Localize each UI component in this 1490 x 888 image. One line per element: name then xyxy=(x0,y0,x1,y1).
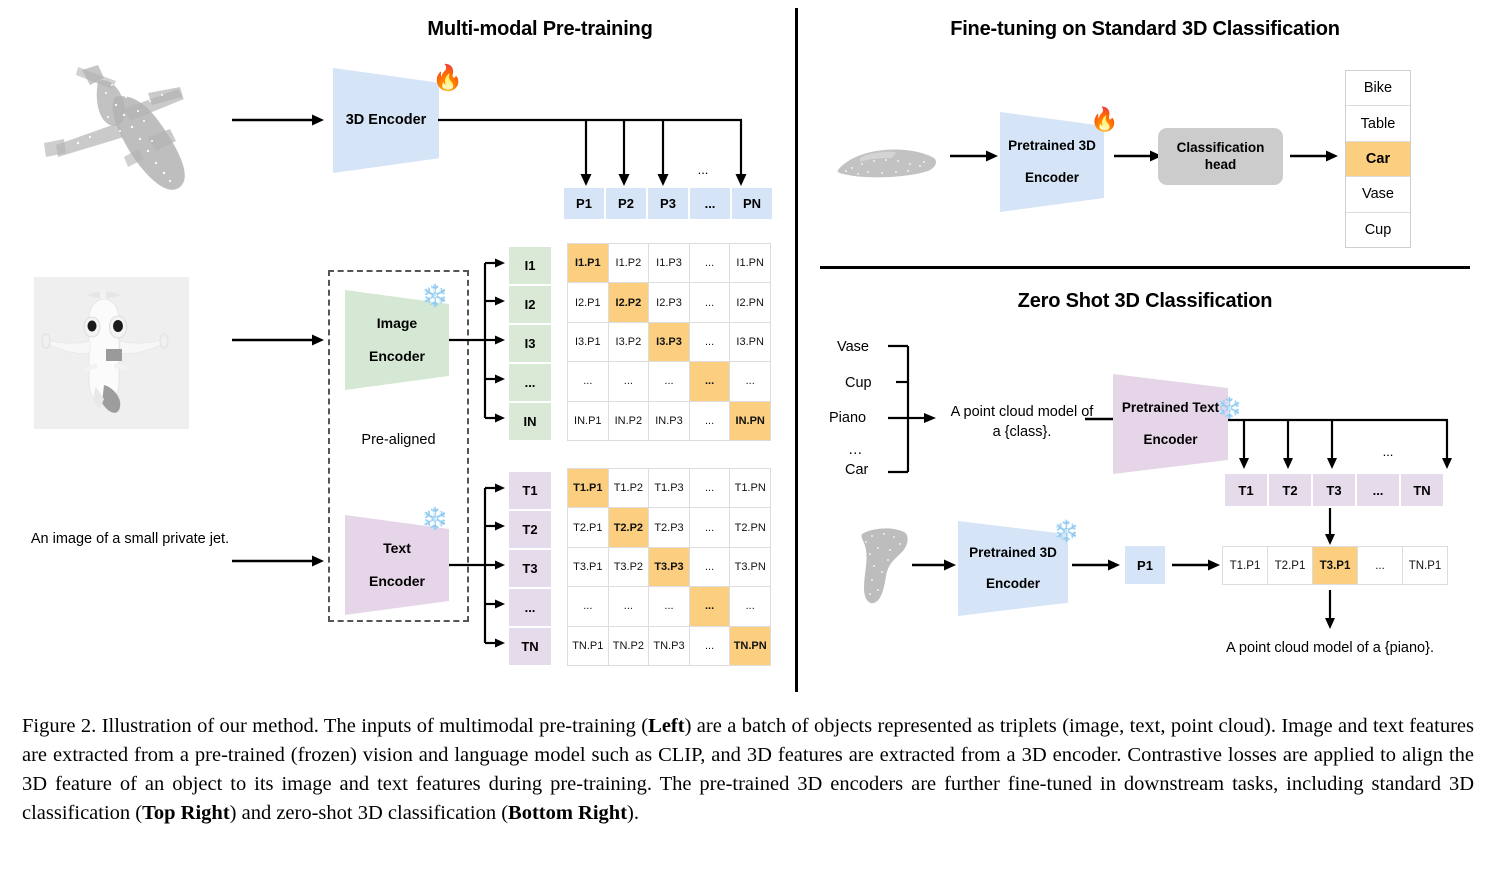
zs-chip-t2[interactable]: T2 xyxy=(1268,473,1312,507)
prompt-template: A point cloud model of a {class}. xyxy=(937,402,1107,442)
score-cell: ... xyxy=(1358,547,1402,584)
class-list-item[interactable]: Car xyxy=(1346,142,1410,177)
matrix-cell: ... xyxy=(690,402,730,440)
point-feature-fanout: ... xyxy=(438,112,758,192)
zs-chip-tn[interactable]: TN xyxy=(1400,473,1444,507)
zs-chip-t1[interactable]: T1 xyxy=(1224,473,1268,507)
bottom-right-panel-title: Zero Shot 3D Classification xyxy=(820,290,1470,313)
zs-result-text: A point cloud model of a {piano}. xyxy=(1180,640,1480,656)
horizontal-divider xyxy=(820,266,1470,269)
matrix-cell: T3.P3 xyxy=(649,548,689,586)
matrix-cell: TN.P2 xyxy=(609,627,649,665)
matrix-cell: I1.PN xyxy=(730,244,770,282)
caption-bold-topright: Top Right xyxy=(142,802,230,824)
zs-chip-p1[interactable]: P1 xyxy=(1124,545,1166,585)
chip-i-ellipsis: ... xyxy=(508,363,552,402)
matrix-cell: T2.P1 xyxy=(568,508,608,546)
matrix-cell: ... xyxy=(609,362,649,400)
matrix-cell: T2.P2 xyxy=(609,508,649,546)
jet-render-image xyxy=(34,277,189,429)
chip-label: T3 xyxy=(1326,483,1341,498)
chip-label: P2 xyxy=(618,196,634,211)
text-input-value: An image of a small private jet. xyxy=(31,531,229,547)
chip-label: T1 xyxy=(522,483,537,498)
matrix-cell: I1.P2 xyxy=(609,244,649,282)
image-encoder-line2: Encoder xyxy=(369,348,425,365)
chip-label: I1 xyxy=(525,258,536,273)
arrow-head-to-classes xyxy=(1290,148,1340,164)
chip-p3[interactable]: P3 xyxy=(647,187,689,220)
text-encoder-line1: Text xyxy=(369,540,425,557)
airplane-point-cloud xyxy=(20,45,250,235)
chip-label: ... xyxy=(1373,483,1384,498)
chip-label: P1 xyxy=(576,196,592,211)
chip-i1[interactable]: I1 xyxy=(508,246,552,285)
chip-label: T2 xyxy=(522,522,537,537)
text-input-label: An image of a small private jet. xyxy=(30,530,230,550)
left-panel-title: Multi-modal Pre-training xyxy=(290,18,790,41)
chip-t1[interactable]: T1 xyxy=(508,471,552,510)
matrix-cell: TN.P3 xyxy=(649,627,689,665)
snowflake-icon: ❄️ xyxy=(421,508,448,530)
arrow-pointcloud-to-3d-encoder xyxy=(232,112,328,128)
top-right-panel-title: Fine-tuning on Standard 3D Classificatio… xyxy=(820,18,1470,41)
pretrained-3d-encoder-block[interactable]: Pretrained 3D Encoder xyxy=(1000,112,1104,212)
vertical-divider xyxy=(795,8,798,692)
matrix-cell: T2.PN xyxy=(730,508,770,546)
candidate-class-car: Car xyxy=(845,462,868,478)
matrix-cell: IN.P3 xyxy=(649,402,689,440)
image-similarity-matrix: I1.P1I1.P2I1.P3...I1.PNI2.P1I2.P2I2.P3..… xyxy=(567,243,771,441)
encoder-3d-block[interactable]: 3D Encoder xyxy=(333,68,439,173)
matrix-cell: I2.P2 xyxy=(609,283,649,321)
chip-t-ellipsis: ... xyxy=(508,588,552,627)
class-list-item[interactable]: Bike xyxy=(1346,71,1410,106)
car-point-cloud xyxy=(832,138,942,188)
chip-t3[interactable]: T3 xyxy=(508,549,552,588)
fire-icon: 🔥 xyxy=(1090,108,1119,131)
svg-text:...: ... xyxy=(1383,444,1394,459)
text-feature-fanout xyxy=(449,480,511,660)
matrix-cell: I2.P3 xyxy=(649,283,689,321)
score-cell: T3.P1 xyxy=(1313,547,1357,584)
matrix-cell: I3.P2 xyxy=(609,323,649,361)
matrix-cell: T3.P1 xyxy=(568,548,608,586)
zs-text-encoder-line1: Pretrained Text xyxy=(1122,400,1219,416)
score-cell: T1.P1 xyxy=(1223,547,1267,584)
arrow-p1-to-scores xyxy=(1172,557,1222,573)
arrow-encoder-to-head xyxy=(1114,148,1164,164)
chip-label: ... xyxy=(705,196,716,211)
matrix-cell: I1.P3 xyxy=(649,244,689,282)
chip-tn[interactable]: TN xyxy=(508,627,552,666)
caption-part-1: Figure 2. Illustration of our method. Th… xyxy=(22,715,648,737)
matrix-cell: T3.P2 xyxy=(609,548,649,586)
class-list-item[interactable]: Vase xyxy=(1346,177,1410,212)
chip-label: T2 xyxy=(1282,483,1297,498)
encoder-3d-label: 3D Encoder xyxy=(346,112,427,129)
matrix-cell: TN.P1 xyxy=(568,627,608,665)
image-encoder-line1: Image xyxy=(369,315,425,332)
candidate-class-vase: Vase xyxy=(837,339,869,355)
zs-encoder-line1: Pretrained 3D xyxy=(969,545,1057,561)
matrix-cell: ... xyxy=(568,587,608,625)
matrix-cell: T1.P3 xyxy=(649,469,689,507)
matrix-cell: ... xyxy=(609,587,649,625)
text-encoder-line2: Encoder xyxy=(369,573,425,590)
classification-output-list[interactable]: BikeTableCarVaseCup xyxy=(1345,70,1411,248)
arrow-image-to-image-encoder xyxy=(232,332,328,348)
matrix-cell: IN.PN xyxy=(730,402,770,440)
point-feature-chips: P1 P2 P3 ... PN xyxy=(563,187,773,220)
classification-head-block[interactable]: Classification head xyxy=(1158,128,1283,185)
chip-label: TN xyxy=(521,639,538,654)
chip-label: ... xyxy=(525,600,536,615)
matrix-cell: IN.P1 xyxy=(568,402,608,440)
chip-label: PN xyxy=(743,196,761,211)
ft-encoder-line1: Pretrained 3D xyxy=(1008,138,1096,154)
matrix-cell: ... xyxy=(690,323,730,361)
chip-pn[interactable]: PN xyxy=(731,187,773,220)
arrow-car-to-encoder xyxy=(950,148,1000,164)
arrow-tchips-to-scores xyxy=(1320,508,1340,546)
matrix-cell: IN.P2 xyxy=(609,402,649,440)
svg-text:...: ... xyxy=(698,162,709,177)
chip-p-ellipsis: ... xyxy=(689,187,731,220)
snowflake-icon: ❄️ xyxy=(421,285,448,307)
ft-encoder-line2: Encoder xyxy=(1008,170,1096,186)
matrix-cell: T3.PN xyxy=(730,548,770,586)
class-list-item[interactable]: Table xyxy=(1346,106,1410,141)
text-similarity-matrix: T1.P1T1.P2T1.P3...T1.PNT2.P1T2.P2T2.P3..… xyxy=(567,468,771,666)
score-cell: T2.P1 xyxy=(1268,547,1312,584)
chip-p2[interactable]: P2 xyxy=(605,187,647,220)
zs-score-strip: T1.P1T2.P1T3.P1...TN.P1 xyxy=(1222,546,1448,585)
arrow-piano-to-encoder xyxy=(912,557,958,573)
image-feature-chips: I1 I2 I3 ... IN xyxy=(508,246,552,441)
candidate-class-piano: Piano xyxy=(829,410,866,426)
chip-i2[interactable]: I2 xyxy=(508,285,552,324)
zs-text-feature-chips: T1 T2 T3 ... TN xyxy=(1224,473,1444,507)
matrix-cell: T1.P2 xyxy=(609,469,649,507)
figure-canvas: Multi-modal Pre-training xyxy=(0,0,1490,700)
matrix-cell: ... xyxy=(730,362,770,400)
zs-pretrained-3d-encoder-block[interactable]: Pretrained 3D Encoder xyxy=(958,521,1068,616)
class-list-item[interactable]: Cup xyxy=(1346,213,1410,247)
fire-icon: 🔥 xyxy=(432,66,463,91)
chip-p1[interactable]: P1 xyxy=(563,187,605,220)
chip-label: P3 xyxy=(660,196,676,211)
text-feature-chips: T1 T2 T3 ... TN xyxy=(508,471,552,666)
matrix-cell: I1.P1 xyxy=(568,244,608,282)
chip-t2[interactable]: T2 xyxy=(508,510,552,549)
zs-text-feature-fanout: ... xyxy=(1228,410,1468,480)
arrow-text-to-text-encoder xyxy=(232,553,328,569)
zs-chip-t3[interactable]: T3 xyxy=(1312,473,1356,507)
chip-label: TN xyxy=(1413,483,1430,498)
matrix-cell: TN.PN xyxy=(730,627,770,665)
matrix-cell: ... xyxy=(649,362,689,400)
prompt-line2: a {class}. xyxy=(993,424,1052,440)
snowflake-icon: ❄️ xyxy=(1053,521,1079,542)
matrix-cell: ... xyxy=(690,244,730,282)
matrix-cell: ... xyxy=(690,362,730,400)
matrix-cell: ... xyxy=(690,627,730,665)
chip-label: I3 xyxy=(525,336,536,351)
chip-label: T3 xyxy=(522,561,537,576)
zs-chip-t-ellipsis: ... xyxy=(1356,473,1400,507)
image-feature-fanout xyxy=(449,255,511,435)
matrix-cell: I3.P1 xyxy=(568,323,608,361)
chip-label: ... xyxy=(525,375,536,390)
arrow-encoder-to-p1 xyxy=(1072,557,1122,573)
zs-text-encoder-line2: Encoder xyxy=(1122,432,1219,448)
chip-label: IN xyxy=(524,414,537,429)
pretrained-text-encoder-block[interactable]: Pretrained Text Encoder xyxy=(1113,374,1228,474)
matrix-cell: I2.PN xyxy=(730,283,770,321)
matrix-cell: ... xyxy=(649,587,689,625)
matrix-cell: I2.P1 xyxy=(568,283,608,321)
prompt-line1: A point cloud model of xyxy=(951,404,1094,420)
chip-label: P1 xyxy=(1137,558,1153,573)
figure-caption: Figure 2. Illustration of our method. Th… xyxy=(22,712,1474,828)
chip-label: T1 xyxy=(1238,483,1253,498)
matrix-cell: ... xyxy=(690,469,730,507)
caption-part-3: ) and zero-shot 3D classification ( xyxy=(230,802,508,824)
matrix-cell: ... xyxy=(690,508,730,546)
chip-i3[interactable]: I3 xyxy=(508,324,552,363)
chip-in[interactable]: IN xyxy=(508,402,552,441)
head-line1: Classification xyxy=(1177,140,1265,155)
caption-bold-bottomright: Bottom Right xyxy=(508,802,627,824)
caption-part-4: ). xyxy=(627,802,639,824)
candidate-class-cup: Cup xyxy=(845,375,872,391)
arrow-scores-to-result xyxy=(1320,590,1340,630)
matrix-cell: I3.P3 xyxy=(649,323,689,361)
matrix-cell: ... xyxy=(690,587,730,625)
chip-label: I2 xyxy=(525,297,536,312)
candidate-class-ellipsis: … xyxy=(848,442,863,458)
matrix-cell: ... xyxy=(730,587,770,625)
matrix-cell: I3.PN xyxy=(730,323,770,361)
score-cell: TN.P1 xyxy=(1403,547,1447,584)
matrix-cell: T1.P1 xyxy=(568,469,608,507)
matrix-cell: ... xyxy=(568,362,608,400)
matrix-cell: ... xyxy=(690,548,730,586)
matrix-cell: T1.PN xyxy=(730,469,770,507)
matrix-cell: T2.P3 xyxy=(649,508,689,546)
caption-bold-left: Left xyxy=(648,715,684,737)
head-line2: head xyxy=(1205,157,1237,172)
prealigned-label: Pre-aligned xyxy=(328,432,469,448)
zs-encoder-line2: Encoder xyxy=(969,576,1057,592)
matrix-cell: ... xyxy=(690,283,730,321)
piano-point-cloud xyxy=(858,520,918,610)
